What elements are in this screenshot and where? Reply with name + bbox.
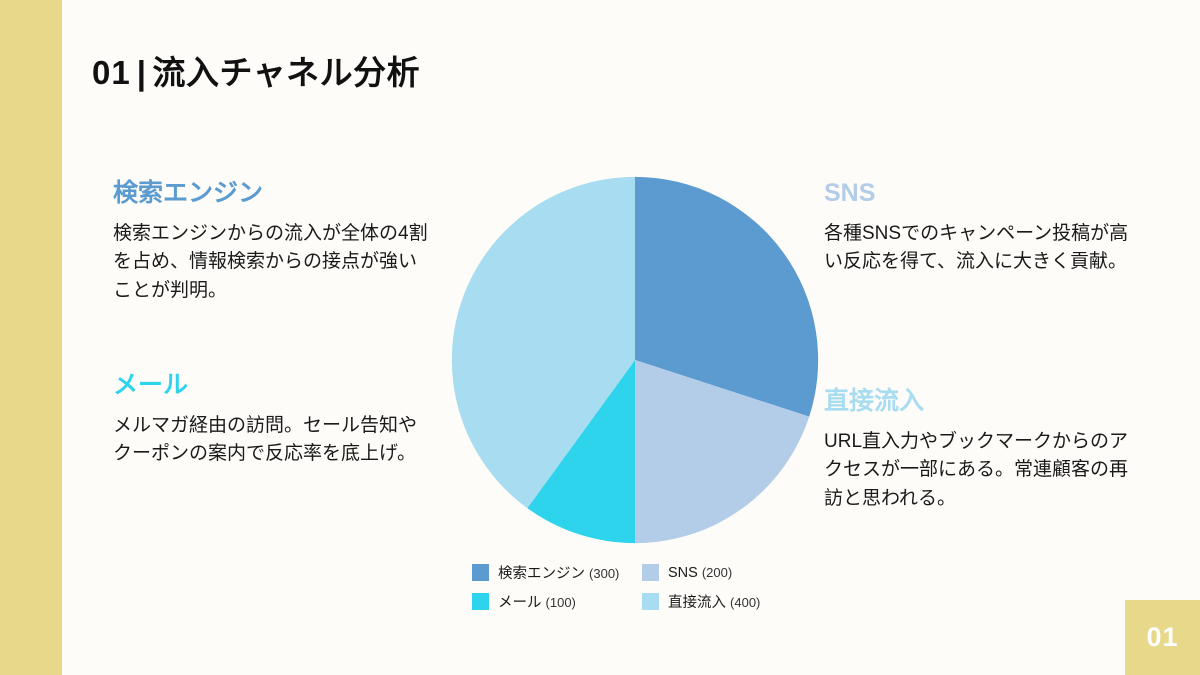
legend-item[interactable]: SNS (200) — [642, 564, 802, 581]
block-body-direct: URL直入力やブックマークからのアクセスが一部にある。常連顧客の再訪と思われる。 — [824, 428, 1144, 515]
legend-label: 直接流入 (400) — [668, 591, 760, 612]
text-block-direct: 直接流入 URL直入力やブックマークからのアクセスが一部にある。常連顧客の再訪と… — [824, 388, 1144, 514]
legend-swatch-icon — [642, 564, 659, 581]
block-heading-mail: メール — [113, 372, 433, 400]
legend-swatch-icon — [642, 593, 659, 610]
block-body-mail: メルマガ経由の訪問。セール告知やクーポンの案内で反応率を底上げ。 — [113, 412, 433, 470]
left-accent-bar — [0, 0, 62, 675]
legend-swatch-icon — [472, 564, 489, 581]
block-body-sns: 各種SNSでのキャンペーン投稿が高い反応を得て、流入に大きく貢献。 — [824, 220, 1144, 278]
legend-label: 検索エンジン (300) — [498, 562, 619, 583]
pie-chart — [450, 175, 820, 545]
title-text: 流入チャネル分析 — [152, 54, 420, 91]
block-heading-sns: SNS — [824, 180, 1144, 208]
block-heading-search: 検索エンジン — [113, 180, 433, 208]
text-block-mail: メール メルマガ経由の訪問。セール告知やクーポンの案内で反応率を底上げ。 — [113, 372, 433, 469]
block-body-search: 検索エンジンからの流入が全体の4割を占め、情報検索からの接点が強いことが判明。 — [113, 220, 433, 307]
page-title: 01|流入チャネル分析 — [92, 46, 420, 94]
corner-number-badge: 01 — [1125, 600, 1200, 675]
legend-label: メール (100) — [498, 591, 576, 612]
legend-item[interactable]: 検索エンジン (300) — [472, 562, 642, 583]
text-block-search: 検索エンジン 検索エンジンからの流入が全体の4割を占め、情報検索からの接点が強い… — [113, 180, 433, 306]
title-number: 01 — [92, 54, 131, 91]
text-block-sns: SNS 各種SNSでのキャンペーン投稿が高い反応を得て、流入に大きく貢献。 — [824, 180, 1144, 277]
pie-chart-svg — [450, 175, 820, 545]
chart-legend: 検索エンジン (300)SNS (200)メール (100)直接流入 (400) — [472, 558, 802, 616]
slide-root: 01|流入チャネル分析 検索エンジン 検索エンジンからの流入が全体の4割を占め、… — [0, 0, 1200, 675]
legend-item[interactable]: 直接流入 (400) — [642, 591, 802, 612]
block-heading-direct: 直接流入 — [824, 388, 1144, 416]
badge-number: 01 — [1146, 622, 1178, 653]
title-separator: | — [137, 54, 147, 91]
legend-label: SNS (200) — [668, 565, 732, 581]
legend-swatch-icon — [472, 593, 489, 610]
legend-item[interactable]: メール (100) — [472, 591, 642, 612]
